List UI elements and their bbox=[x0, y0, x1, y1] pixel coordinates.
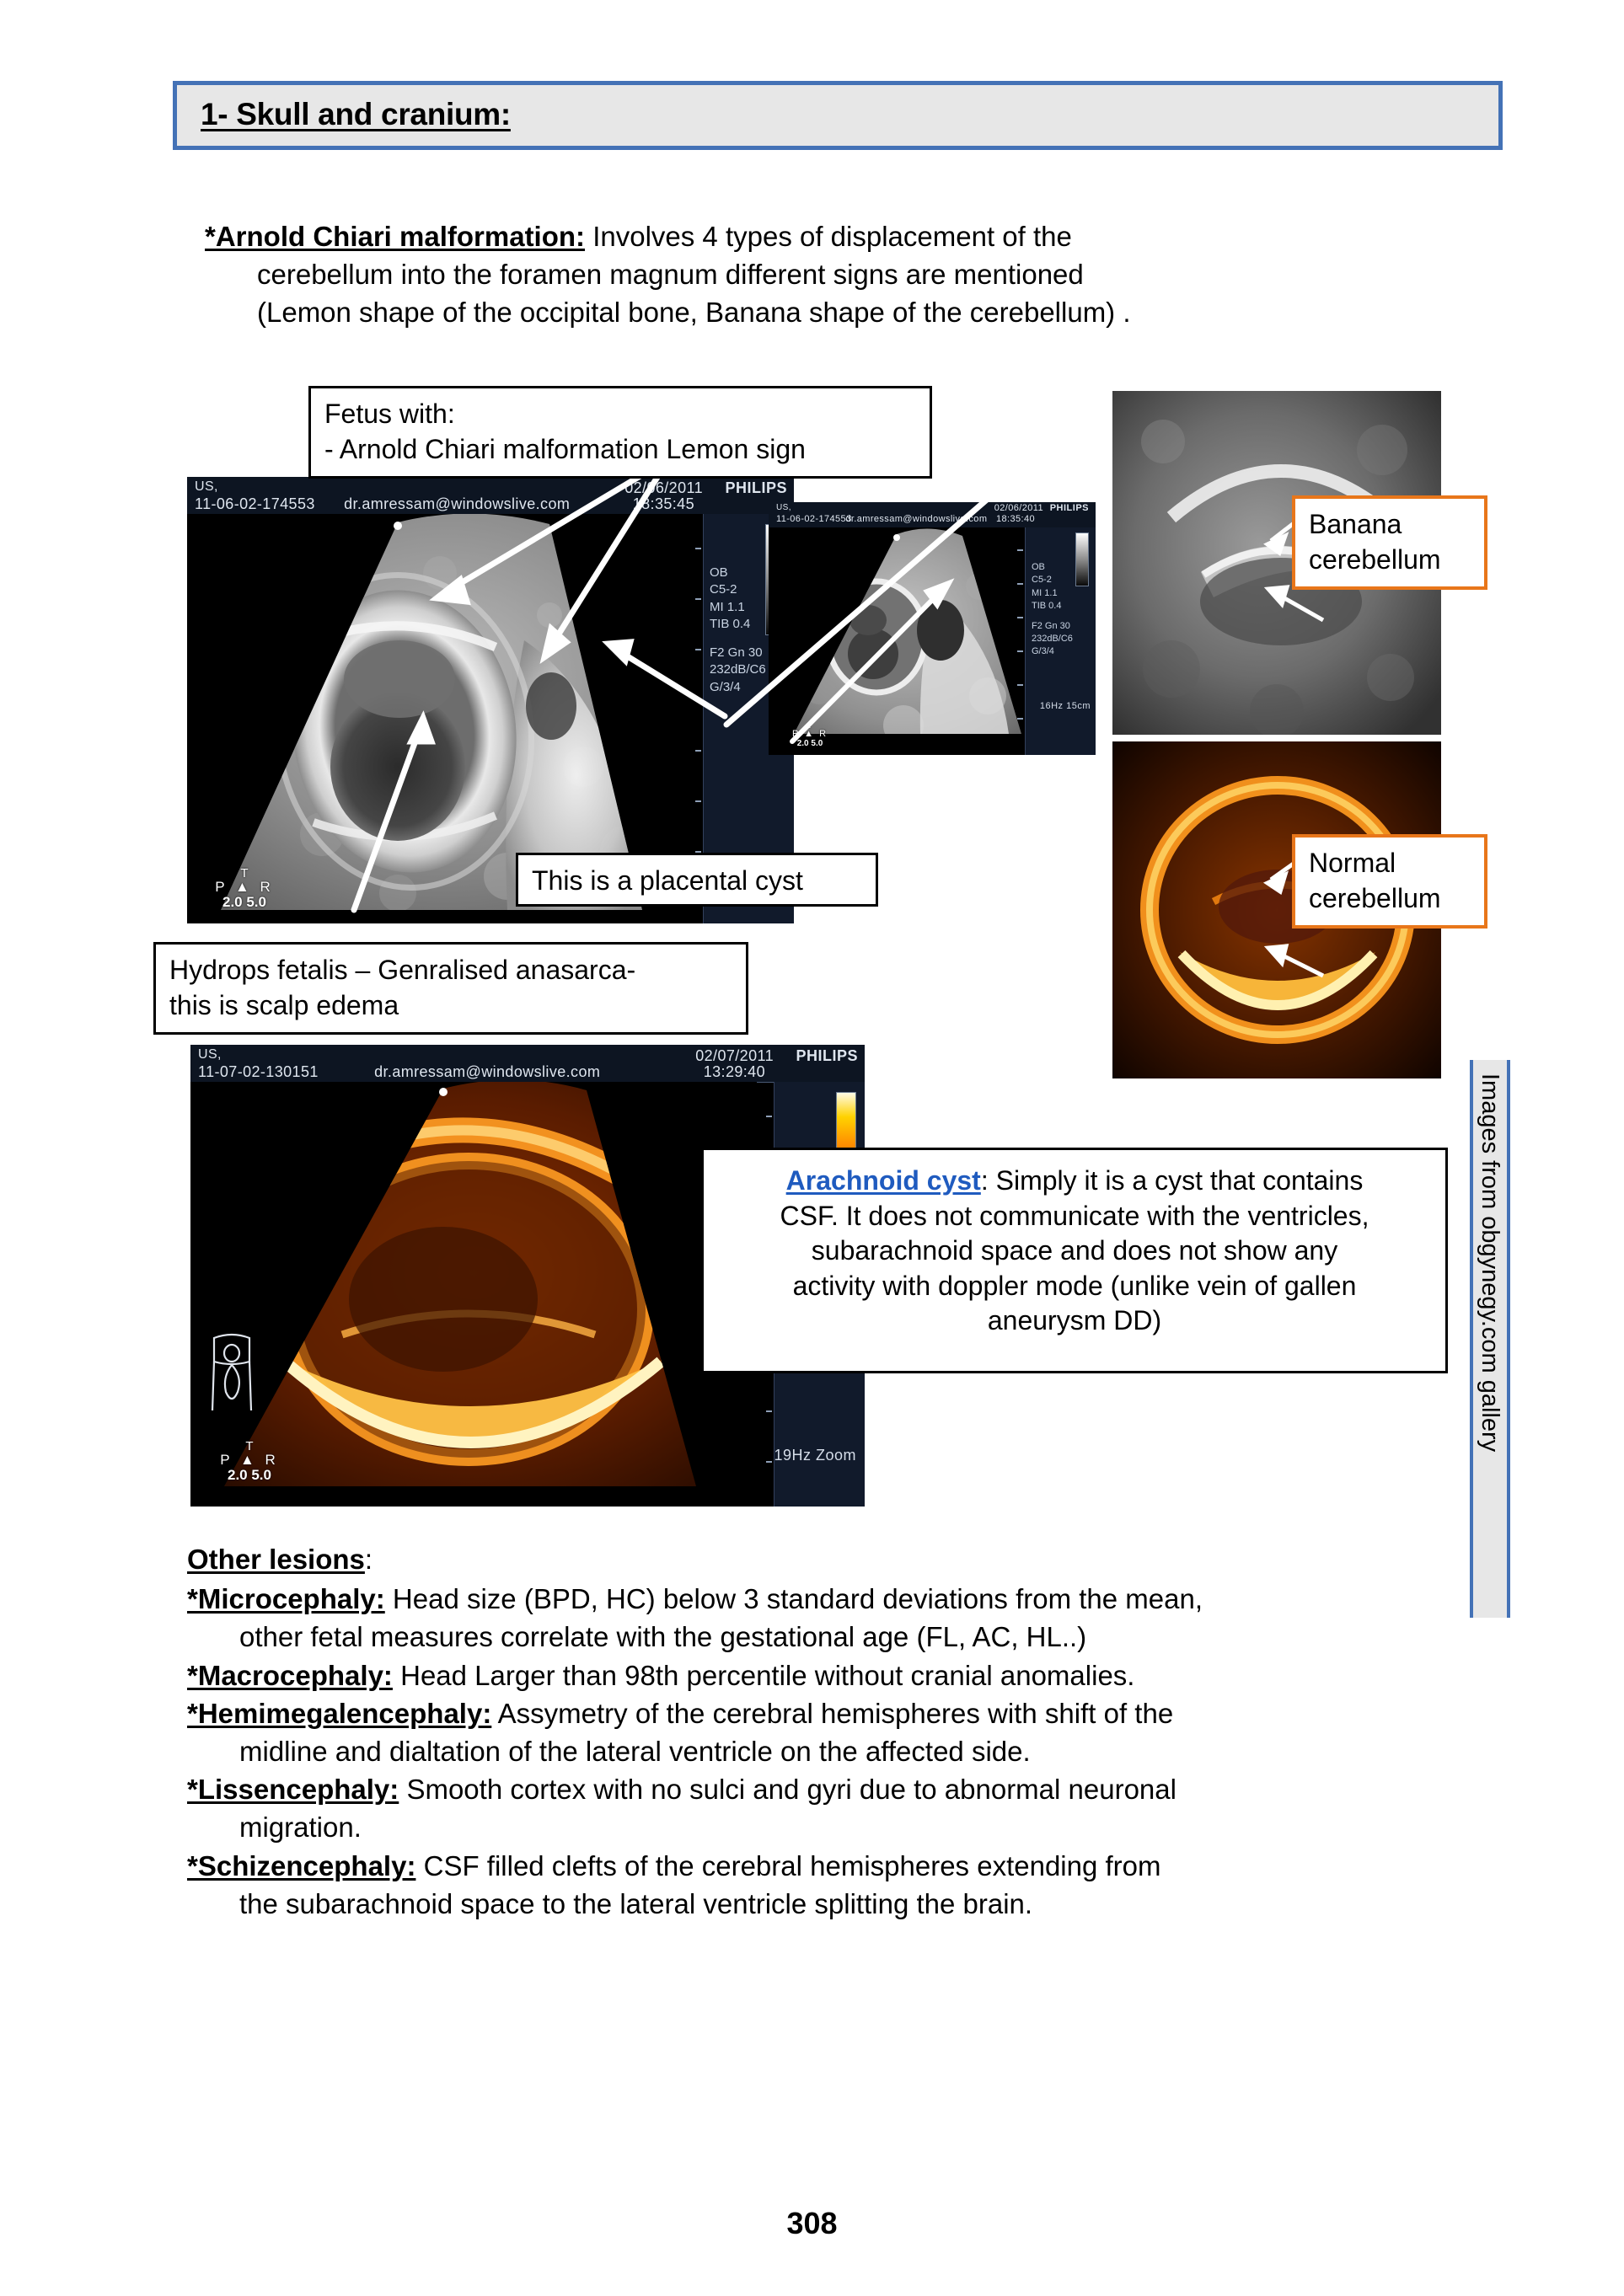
ultrasound-top-header: US, 11-06-02-174553 dr.amressam@windowsl… bbox=[187, 477, 794, 515]
us-operator-email: dr.amressam@windowslive.com bbox=[344, 495, 570, 513]
lesion-term: *Macrocephaly: bbox=[187, 1660, 393, 1691]
ultrasound-image-inset: US, 11-06-02-174553 dr.amressam@windowsl… bbox=[769, 502, 1096, 755]
callout-arachnoid-term: Arachnoid cyst bbox=[786, 1165, 981, 1196]
us-time: 18:35:45 bbox=[633, 495, 694, 513]
ultrasound-top-orientation-marker: T P ▲ R 2.0 5.0 bbox=[206, 867, 283, 910]
lesion-line: *Macrocephaly: Head Larger than 98th per… bbox=[187, 1656, 1392, 1694]
intro-line-1-rest: Involves 4 types of displacement of the bbox=[585, 221, 1072, 252]
orient-triangle-icon: ▲ bbox=[804, 729, 815, 739]
probe-position-glyph-icon bbox=[206, 1333, 258, 1416]
ultrasound-bottom-orientation-marker: T P ▲ R 2.0 5.0 bbox=[207, 1440, 292, 1483]
page-title: 1- Skull and cranium: bbox=[201, 97, 511, 132]
us-operator-email: dr.amressam@windowslive.com bbox=[845, 514, 987, 524]
document-page: 1- Skull and cranium: *Arnold Chiari mal… bbox=[0, 0, 1624, 2296]
lesion-item: *Microcephaly: Head size (BPD, HC) below… bbox=[187, 1580, 1392, 1656]
us-study-id: 11-06-02-174553 bbox=[776, 514, 852, 524]
lesion-term: *Schizencephaly: bbox=[187, 1850, 415, 1881]
us-time: 13:29:40 bbox=[704, 1063, 765, 1081]
lesion-desc: Head size (BPD, HC) below 3 standard dev… bbox=[385, 1583, 1203, 1614]
lesion-line: *Lissencephaly: Smooth cortex with no su… bbox=[187, 1770, 1392, 1808]
lesion-term: *Microcephaly: bbox=[187, 1583, 385, 1614]
lesion-line: *Hemimegalencephaly: Assymetry of the ce… bbox=[187, 1694, 1392, 1732]
us-operator-email: dr.amressam@windowslive.com bbox=[374, 1063, 600, 1081]
callout-banana-line-2: cerebellum bbox=[1309, 543, 1471, 578]
orient-right: R bbox=[265, 1452, 279, 1468]
callout-fetus-line-2: - Arnold Chiari malformation Lemon sign bbox=[324, 432, 916, 468]
lesion-item: *Schizencephaly: CSF filled clefts of th… bbox=[187, 1847, 1392, 1923]
us-time: 18:35:40 bbox=[996, 514, 1035, 524]
ultrasound-inset-header: US, 11-06-02-174553 dr.amressam@windowsl… bbox=[769, 502, 1096, 528]
us-vendor-logo: PHILIPS bbox=[1050, 503, 1089, 513]
us-date: 02/07/2011 bbox=[695, 1047, 774, 1065]
orient-right: R bbox=[260, 879, 274, 895]
us-tag: US, bbox=[195, 479, 218, 495]
orient-left: P bbox=[220, 1452, 233, 1468]
orient-top: T bbox=[206, 867, 283, 880]
intro-line-1: *Arnold Chiari malformation: Involves 4 … bbox=[205, 217, 1334, 255]
callout-placental-cyst: This is a placental cyst bbox=[516, 853, 878, 907]
source-credit-sidebar: Images from obgynegy.com gallery bbox=[1470, 1060, 1510, 1618]
callout-banana-cerebellum: Banana cerebellum bbox=[1292, 495, 1487, 590]
lesion-cont: migration. bbox=[187, 1808, 1392, 1846]
other-lesions-heading-text: Other lesions bbox=[187, 1544, 365, 1575]
us-param: MI 1.1 bbox=[1032, 587, 1096, 600]
other-lesions-heading-colon: : bbox=[365, 1544, 373, 1575]
callout-hydrops-line-2: this is scalp edema bbox=[169, 988, 732, 1024]
ultrasound-inset-orientation-marker: T P ▲ R 2.0 5.0 bbox=[784, 722, 836, 748]
callout-normal-line-1: Normal bbox=[1309, 846, 1471, 881]
ultrasound-inset-grayscale-bar bbox=[1075, 533, 1089, 586]
us-study-id: 11-06-02-174553 bbox=[195, 495, 315, 513]
us-study-id: 11-07-02-130151 bbox=[198, 1063, 319, 1081]
lesion-desc: Smooth cortex with no sulci and gyri due… bbox=[399, 1774, 1176, 1805]
us-param: 232dB/C6 bbox=[1032, 633, 1096, 645]
callout-fetus-with: Fetus with: - Arnold Chiari malformation… bbox=[308, 386, 932, 479]
lesion-line: *Schizencephaly: CSF filled clefts of th… bbox=[187, 1847, 1392, 1885]
lesion-desc: Head Larger than 98th percentile without… bbox=[393, 1660, 1135, 1691]
us-vendor-logo: PHILIPS bbox=[725, 479, 787, 497]
ultrasound-bottom-header: US, 11-07-02-130151 dr.amressam@windowsl… bbox=[190, 1045, 865, 1083]
ultrasound-inset-depth-ruler bbox=[1016, 527, 1025, 755]
ultrasound-bottom-footer: 19Hz Zoom bbox=[774, 1447, 856, 1464]
orient-triangle-icon: ▲ bbox=[240, 1452, 258, 1468]
section-heading-bar: 1- Skull and cranium: bbox=[173, 81, 1503, 150]
us-tag: US, bbox=[776, 503, 791, 512]
lesion-item: *Lissencephaly: Smooth cortex with no su… bbox=[187, 1770, 1392, 1846]
callout-normal-cerebellum: Normal cerebellum bbox=[1292, 834, 1487, 929]
orient-values: 2.0 5.0 bbox=[784, 740, 836, 749]
lesion-desc: CSF filled clefts of the cerebral hemisp… bbox=[415, 1850, 1160, 1881]
us-param: TIB 0.4 bbox=[1032, 600, 1096, 613]
ultrasound-inset-footer: 16Hz 15cm bbox=[1040, 701, 1091, 711]
lesion-term: *Lissencephaly: bbox=[187, 1774, 399, 1805]
us-param: F2 Gn 30 bbox=[1032, 620, 1096, 633]
callout-arachnoid-line-1-rest: : Simply it is a cyst that contains bbox=[981, 1165, 1364, 1196]
callout-arachnoid-line-1: Arachnoid cyst: Simply it is a cyst that… bbox=[719, 1164, 1430, 1199]
other-lesions-section: Other lesions: *Microcephaly: Head size … bbox=[187, 1540, 1392, 1923]
callout-banana-line-1: Banana bbox=[1309, 507, 1471, 543]
us-date: 02/06/2011 bbox=[994, 503, 1043, 513]
orient-left: P bbox=[792, 729, 800, 739]
callout-fetus-line-1: Fetus with: bbox=[324, 397, 916, 432]
lesion-cont: midline and dialtation of the lateral ve… bbox=[187, 1732, 1392, 1770]
callout-arachnoid-line-2: CSF. It does not communicate with the ve… bbox=[719, 1199, 1430, 1234]
source-credit-text: Images from obgynegy.com gallery bbox=[1476, 1060, 1503, 1452]
orient-values: 2.0 5.0 bbox=[207, 1468, 292, 1483]
callout-hydrops-fetalis: Hydrops fetalis – Genralised anasarca- t… bbox=[153, 942, 748, 1035]
lesion-cont: other fetal measures correlate with the … bbox=[187, 1618, 1392, 1656]
lesion-line: *Microcephaly: Head size (BPD, HC) below… bbox=[187, 1580, 1392, 1618]
lesion-desc: Assymetry of the cerebral hemispheres wi… bbox=[491, 1698, 1173, 1729]
intro-paragraph: *Arnold Chiari malformation: Involves 4 … bbox=[205, 217, 1334, 332]
lesion-item: *Macrocephaly: Head Larger than 98th per… bbox=[187, 1656, 1392, 1694]
intro-line-2: cerebellum into the foramen magnum diffe… bbox=[205, 255, 1334, 293]
us-param: G/3/4 bbox=[1032, 645, 1096, 658]
us-tag: US, bbox=[198, 1047, 222, 1062]
lesion-item: *Hemimegalencephaly: Assymetry of the ce… bbox=[187, 1694, 1392, 1770]
orient-left: P bbox=[215, 879, 228, 895]
us-vendor-logo: PHILIPS bbox=[796, 1047, 858, 1065]
other-lesions-heading: Other lesions: bbox=[187, 1540, 1392, 1578]
lesion-term: *Hemimegalencephaly: bbox=[187, 1698, 491, 1729]
lesion-cont: the subarachnoid space to the lateral ve… bbox=[187, 1885, 1392, 1923]
orient-top: T bbox=[207, 1440, 292, 1453]
callout-arachnoid-line-3: subarachnoid space and does not show any bbox=[719, 1234, 1430, 1269]
callout-arachnoid-line-4: activity with doppler mode (unlike vein … bbox=[719, 1269, 1430, 1304]
orient-triangle-icon: ▲ bbox=[235, 879, 253, 895]
page-number: 308 bbox=[0, 2206, 1624, 2241]
orient-right: R bbox=[819, 729, 828, 739]
callout-normal-line-2: cerebellum bbox=[1309, 881, 1471, 917]
intro-term: *Arnold Chiari malformation: bbox=[205, 221, 585, 252]
intro-line-3: (Lemon shape of the occipital bone, Bana… bbox=[205, 293, 1334, 331]
callout-arachnoid-cyst: Arachnoid cyst: Simply it is a cyst that… bbox=[701, 1148, 1448, 1373]
callout-hydrops-line-1: Hydrops fetalis – Genralised anasarca- bbox=[169, 953, 732, 988]
callout-arachnoid-line-5: aneurysm DD) bbox=[719, 1303, 1430, 1339]
orient-values: 2.0 5.0 bbox=[206, 895, 283, 910]
us-date: 02/06/2011 bbox=[624, 479, 703, 497]
